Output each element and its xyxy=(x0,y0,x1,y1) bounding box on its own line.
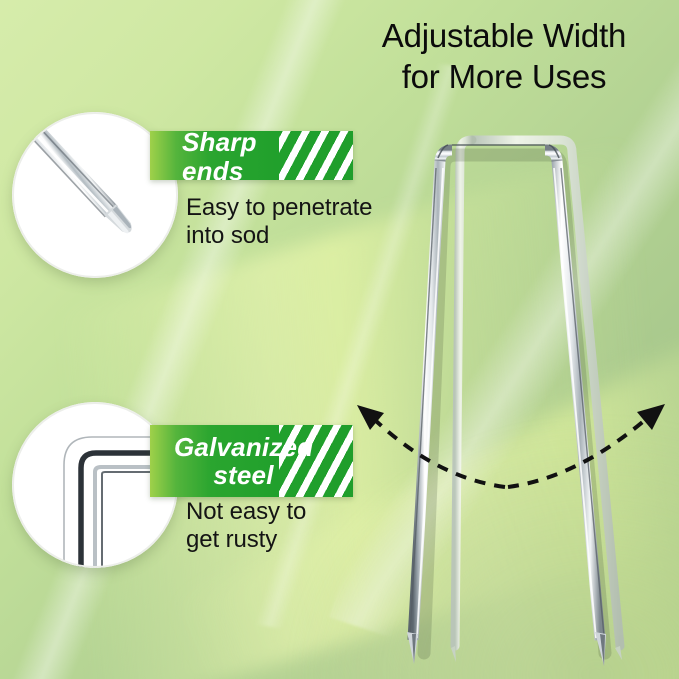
product-infographic: Adjustable Width for More Uses xyxy=(0,0,679,679)
feature-banner-galvanized-steel: Galvanized steel xyxy=(150,425,353,497)
feature-caption-sharp-ends: Easy to penetrate into sod xyxy=(186,194,396,250)
feature-banner-sharp-ends: Sharp ends xyxy=(150,131,353,180)
feature-caption-galvanized-steel: Not easy to get rusty xyxy=(186,498,396,554)
feature-banner-label: Galvanized steel xyxy=(150,433,353,489)
feature-banner-label: Sharp ends xyxy=(150,131,353,180)
page-title: Adjustable Width for More Uses xyxy=(336,16,672,98)
